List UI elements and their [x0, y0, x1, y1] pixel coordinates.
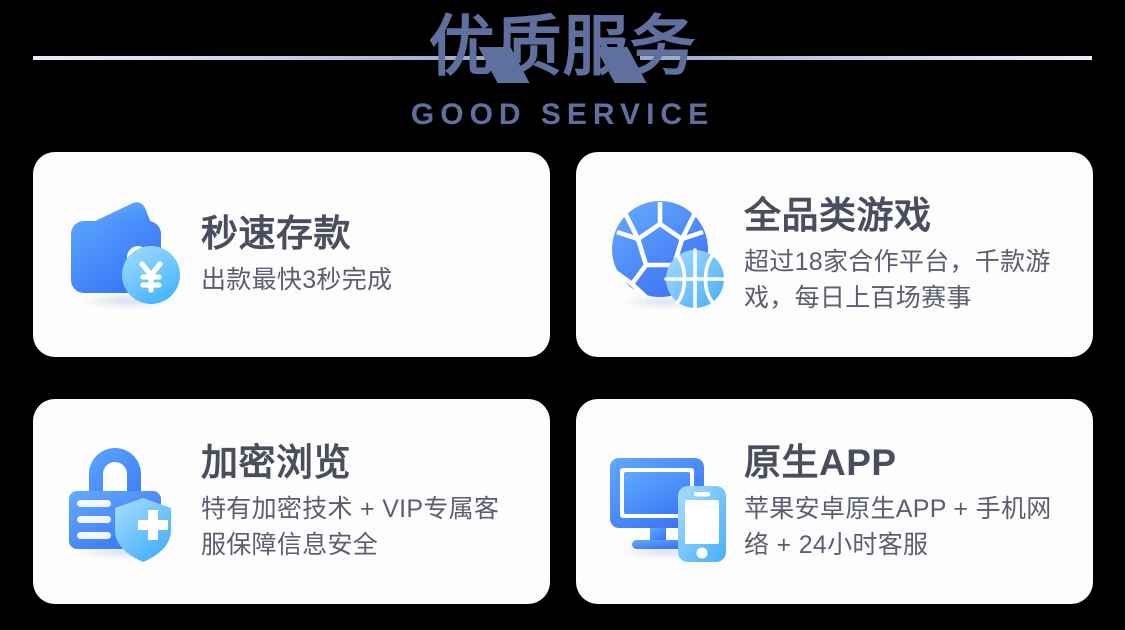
card-title: 秒速存款 — [201, 212, 524, 256]
soccer-basketball-icon — [602, 189, 734, 321]
card-title: 加密浏览 — [201, 441, 524, 485]
feature-text-games: 全品类游戏 超过18家合作平台，千款游戏，每日上百场赛事 — [734, 194, 1071, 316]
feature-card-encryption[interactable]: 加密浏览 特有加密技术 + VIP专属客服保障信息安全 — [33, 399, 550, 604]
feature-card-native-app[interactable]: 原生APP 苹果安卓原生APP + 手机网络 + 24小时客服 — [576, 399, 1093, 604]
feature-text-native-app: 原生APP 苹果安卓原生APP + 手机网络 + 24小时客服 — [734, 441, 1071, 563]
banner-header: 优质服务 GOOD SERVICE — [0, 0, 1125, 140]
feature-text-encryption: 加密浏览 特有加密技术 + VIP专属客服保障信息安全 — [191, 441, 528, 563]
monitor-phone-icon — [602, 436, 734, 568]
card-description: 出款最快3秒完成 — [201, 262, 524, 298]
card-description: 超过18家合作平台，千款游戏，每日上百场赛事 — [744, 244, 1067, 316]
card-title: 原生APP — [744, 441, 1067, 485]
feature-card-games[interactable]: 全品类游戏 超过18家合作平台，千款游戏，每日上百场赛事 — [576, 152, 1093, 357]
feature-card-deposit[interactable]: 秒速存款 出款最快3秒完成 — [33, 152, 550, 357]
card-description: 特有加密技术 + VIP专属客服保障信息安全 — [201, 491, 524, 563]
service-feature-banner: 优质服务 GOOD SERVICE — [0, 0, 1125, 630]
card-description: 苹果安卓原生APP + 手机网络 + 24小时客服 — [744, 491, 1067, 563]
page-subtitle: GOOD SERVICE — [0, 98, 1125, 132]
lock-shield-icon — [59, 436, 191, 568]
wallet-yen-icon — [59, 189, 191, 321]
feature-card-grid: 秒速存款 出款最快3秒完成 — [33, 152, 1093, 604]
page-title: 优质服务 — [0, 4, 1125, 88]
card-title: 全品类游戏 — [744, 194, 1067, 238]
feature-text-deposit: 秒速存款 出款最快3秒完成 — [191, 212, 528, 298]
